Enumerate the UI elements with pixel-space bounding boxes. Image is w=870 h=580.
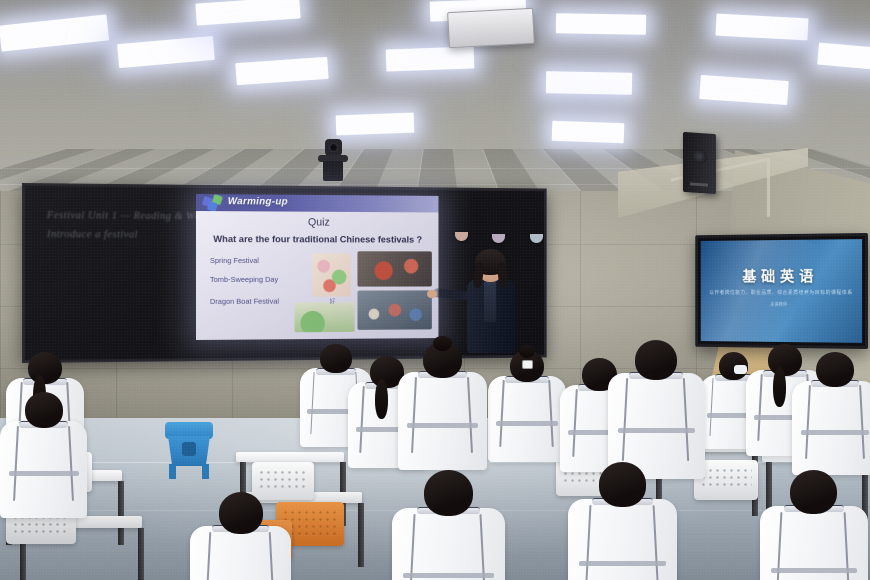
student — [398, 342, 487, 477]
dragon-boat-crowd-photo — [357, 290, 431, 329]
student-head — [25, 392, 63, 428]
tv-screen: 基础英语 以作者岗位能力、职业品质、综合素质培养为目标的课程体系 主讲教师 · — [701, 239, 862, 343]
ceiling-light — [715, 14, 808, 41]
projected-slide: Warming-up Quiz What are the four tradit… — [196, 194, 438, 340]
hair-clip-icon — [522, 360, 533, 369]
slide-watermark: 好 — [330, 297, 336, 306]
uniform-band — [403, 573, 493, 578]
student — [488, 350, 566, 468]
student-uniform — [190, 526, 291, 580]
ceiling-light — [195, 0, 300, 26]
student-uniform — [568, 499, 677, 580]
classroom-photo: Festival Unit 1 — Reading & Writing Intr… — [0, 0, 870, 580]
ceiling-light — [546, 71, 632, 94]
student — [0, 392, 87, 524]
ceiling-light — [699, 75, 788, 105]
student-head — [790, 470, 837, 514]
ceiling-light — [386, 46, 475, 71]
student-uniform — [0, 421, 87, 517]
teacher-hand — [427, 290, 437, 298]
slide-question: What are the four traditional Chinese fe… — [202, 234, 433, 246]
uniform-band — [801, 430, 870, 435]
student-head — [816, 352, 853, 387]
uniform-band — [618, 428, 695, 433]
ptz-camera-icon — [318, 139, 348, 183]
student-uniform — [398, 372, 487, 470]
student-head — [635, 340, 677, 380]
uniform-band — [9, 471, 79, 476]
wall-speaker-icon — [683, 132, 716, 194]
student — [568, 462, 677, 580]
ceiling-light — [552, 121, 625, 144]
student — [190, 492, 291, 580]
uniform-band — [496, 421, 558, 426]
desk — [236, 452, 344, 462]
student — [760, 470, 868, 580]
ceiling-light — [336, 113, 415, 136]
slide-body: Quiz What are the four traditional Chine… — [196, 211, 438, 340]
tv-title: 基础英语 — [701, 265, 862, 286]
student-ponytail — [375, 379, 388, 419]
student-head — [28, 352, 62, 384]
right-display: 基础英语 以作者岗位能力、职业品质、综合素质培养为目标的课程体系 主讲教师 · — [695, 233, 868, 349]
slide-header-label: Warming-up — [228, 196, 288, 207]
slide-header: Warming-up — [196, 194, 438, 212]
slide-answer-2: Tomb-Sweeping Day — [210, 275, 278, 284]
festival-illustration-image — [312, 253, 351, 296]
uniform-band — [407, 423, 478, 428]
uniform-band — [579, 561, 666, 566]
projector-housing — [447, 8, 535, 48]
slide-answer-1: Spring Festival — [210, 256, 259, 265]
student-uniform — [392, 508, 505, 580]
desk-leg — [358, 503, 364, 567]
student-head — [219, 492, 263, 534]
student-uniform — [792, 381, 870, 476]
desk-leg — [138, 528, 144, 580]
blue-stool — [165, 422, 213, 478]
student — [792, 352, 870, 482]
uniform-band — [771, 568, 857, 573]
student-hair-bun — [519, 345, 535, 358]
ceiling-light — [817, 43, 870, 72]
student-ponytail — [773, 367, 786, 407]
student-hair-bun — [433, 336, 452, 351]
slide-quiz-label: Quiz — [196, 216, 438, 229]
desk-leg — [118, 481, 124, 545]
tv-byline: 主讲教师 · — [701, 302, 862, 308]
tv-subtitle: 以作者岗位能力、职业品质、综合素质培养为目标的课程体系 — [701, 289, 862, 296]
student-head — [424, 470, 473, 516]
red-lanterns-photo — [357, 251, 431, 286]
slide-answer-3: Dragon Boat Festival — [210, 297, 279, 306]
ceiling-light — [0, 14, 109, 51]
ceiling-light — [117, 36, 215, 68]
student-head — [320, 344, 351, 373]
ceiling-light — [556, 13, 646, 35]
green-field-photo — [295, 302, 355, 332]
student — [392, 470, 505, 580]
student-head — [599, 462, 647, 507]
ceiling-light — [235, 57, 328, 85]
